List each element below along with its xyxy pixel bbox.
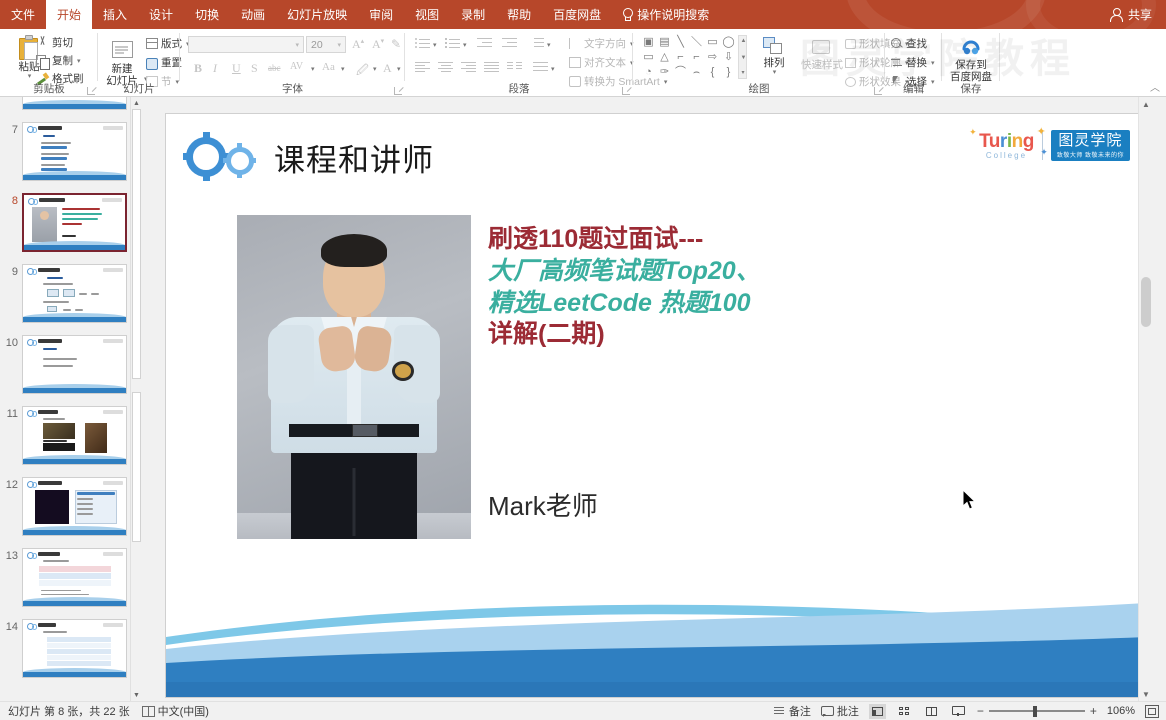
status-right: 备注 批注 − xyxy=(773,703,1166,719)
copy-icon xyxy=(36,54,49,67)
clipboard-dialog-launcher[interactable] xyxy=(87,87,95,95)
shape-arc-icon[interactable]: ⌢ xyxy=(693,67,700,78)
quick-styles-button[interactable]: 快速样式 xyxy=(799,37,845,71)
scrollbar-thumb[interactable] xyxy=(132,392,141,542)
group-label-save: 保存 xyxy=(942,81,1000,96)
columns-button[interactable] xyxy=(507,61,522,73)
thumb-number: 13 xyxy=(0,548,22,607)
tab-insert[interactable]: 插入 xyxy=(92,0,138,29)
language-icon xyxy=(142,706,154,716)
shape-textbox-icon[interactable]: ▣ xyxy=(643,37,653,48)
zoom-knob[interactable] xyxy=(1033,706,1037,717)
gear-large-icon xyxy=(186,137,226,177)
list-item[interactable]: 7 xyxy=(0,122,141,181)
brand-chinese-box: 图灵学院 致敬大师 致敬未来的你 xyxy=(1051,130,1130,161)
increase-font-size-button[interactable]: A▴ xyxy=(352,37,364,52)
tab-home[interactable]: 开始 xyxy=(46,0,92,29)
instructor-photo[interactable] xyxy=(237,215,471,539)
thumb-slide-7[interactable] xyxy=(22,122,127,181)
scroll-up-icon[interactable]: ▲ xyxy=(131,97,141,109)
layout-icon xyxy=(146,38,158,49)
text-direction-icon xyxy=(569,38,581,49)
status-bar: 幻灯片 第 8 张，共 22 张 中文(中国) 备注 批注 xyxy=(0,701,1166,720)
headline-line-4: 详解(二期) xyxy=(488,319,1008,351)
align-center-button[interactable] xyxy=(438,61,453,73)
cut-label: 剪切 xyxy=(52,35,73,50)
ribbon-group-paragraph: ▾ ▾ ▾ xyxy=(405,29,633,97)
font-color-caret-icon[interactable]: ▾ xyxy=(397,65,401,73)
slide-counter[interactable]: 幻灯片 第 8 张，共 22 张 xyxy=(8,703,130,719)
zoom-out-button[interactable]: − xyxy=(977,704,984,718)
language-indicator[interactable]: 中文(中国) xyxy=(142,703,209,719)
thumb-number: 10 xyxy=(0,335,22,394)
thumb-slide-8[interactable] xyxy=(22,193,127,252)
text-shadow-button[interactable]: S xyxy=(251,61,258,76)
numbering-button[interactable] xyxy=(445,37,460,49)
group-label-paragraph: 段落 xyxy=(405,81,633,96)
strikethrough-button[interactable]: abc xyxy=(268,63,281,73)
thumb-title xyxy=(38,481,62,485)
canvas-scrollbar[interactable]: ▲ ▼ xyxy=(1138,97,1152,701)
copy-caret-icon[interactable]: ▾ xyxy=(77,57,81,65)
shape-line-icon[interactable]: ╲ xyxy=(677,37,684,48)
scrollbar-thumb[interactable] xyxy=(1141,277,1151,327)
gear-icon xyxy=(27,410,36,415)
headline-line-1: 刷透110题过面试--- xyxy=(488,224,1008,256)
replace-caret-icon[interactable]: ▾ xyxy=(931,59,935,67)
font-size-value: 20 xyxy=(311,39,323,51)
text-direction-button[interactable]: 文字方向 ▾ xyxy=(569,36,634,51)
shapes-gallery[interactable]: ▣ ▤ ╲ ＼ ▭ ◯ ▭ △ ⌐ ⌐ ⇨ ⇩ ◔ ✑ ⌒ ⌢ { } xyxy=(641,35,736,79)
thumb-title xyxy=(38,552,60,556)
powerpoint-window: 文件 开始 插入 设计 切换 动画 幻灯片放映 审阅 视图 录制 帮助 百度网盘… xyxy=(0,0,1166,720)
normal-view-icon xyxy=(872,707,883,716)
ribbon-group-slides: 新建 幻灯片 ▾ 版式 ▾ 重置 节 ▾ 幻灯片 xyxy=(98,29,180,97)
paste-caret-icon[interactable]: ▾ xyxy=(28,73,32,81)
list-item[interactable]: 6 xyxy=(0,97,141,110)
tab-review[interactable]: 审阅 xyxy=(358,0,404,29)
list-item[interactable]: 12 xyxy=(0,477,141,536)
star-icon: ✦ xyxy=(969,127,977,138)
thumb-number: 14 xyxy=(0,619,22,678)
thumb-brand xyxy=(103,623,123,627)
thumb-slide-12[interactable] xyxy=(22,477,127,536)
slideshow-icon xyxy=(952,706,964,716)
align-right-button[interactable] xyxy=(461,61,476,73)
shape-rectangle-icon[interactable]: ▭ xyxy=(707,37,717,48)
shape-freeform-icon[interactable]: ✑ xyxy=(660,67,669,78)
fit-to-window-button[interactable] xyxy=(1145,705,1158,717)
new-slide-button[interactable]: 新建 幻灯片 xyxy=(100,37,144,87)
list-item[interactable]: 11 xyxy=(0,406,141,465)
find-label: 查找 xyxy=(906,36,927,51)
shape-outline-icon xyxy=(845,58,856,68)
character-spacing-caret-icon[interactable]: ▾ xyxy=(311,65,315,73)
align-left-button[interactable] xyxy=(415,61,430,73)
zoom-slider[interactable]: − + xyxy=(977,704,1097,718)
gear-icon xyxy=(27,126,36,131)
font-size-combobox[interactable]: 20 ▾ xyxy=(306,36,346,53)
shape-fill-icon xyxy=(845,39,856,49)
font-dialog-launcher[interactable] xyxy=(394,87,402,95)
tab-record[interactable]: 录制 xyxy=(450,0,496,29)
notes-button[interactable]: 备注 xyxy=(773,703,811,719)
new-slide-label-1: 新建 xyxy=(112,63,133,75)
thumb-number: 6 xyxy=(0,97,22,110)
ribbon-group-font: ▾ 20 ▾ A▴ A▾ ✎ B I U S abc AV ▾ Aa ▾ 🖉 ▾… xyxy=(180,29,405,97)
replace-label: 替换 xyxy=(906,55,927,70)
shape-rounded-rect-icon[interactable]: ▭ xyxy=(643,52,653,63)
shape-vertical-textbox-icon[interactable]: ▤ xyxy=(659,37,669,48)
ribbon: 粘贴 ▾ 剪切 复制 ▾ 格式刷 剪贴板 xyxy=(0,29,1166,97)
mouse-cursor xyxy=(962,489,978,511)
thumb-slide-14[interactable] xyxy=(22,619,127,678)
font-name-caret-icon[interactable]: ▾ xyxy=(295,41,299,49)
replace-button[interactable]: 替换 ▾ xyxy=(891,55,935,70)
find-button[interactable]: 查找 xyxy=(891,36,927,51)
shape-right-arrow-icon[interactable]: ⇨ xyxy=(708,52,717,63)
group-label-drawing: 绘图 xyxy=(633,81,885,96)
justify-button[interactable] xyxy=(484,61,499,73)
thumb-title xyxy=(38,126,62,130)
replace-icon xyxy=(891,57,903,69)
thumbnail-scrollbar[interactable]: ▲ ▼ xyxy=(130,97,141,701)
thumb-title xyxy=(38,268,60,272)
brand-logo: ✦ ✦ ✦ Turing College 图灵学院 致敬大师 致敬未来的你 xyxy=(979,130,1130,161)
group-label-editing: 编辑 xyxy=(885,81,942,96)
group-label-clipboard: 剪贴板 xyxy=(0,81,98,96)
thumb-brand xyxy=(103,126,123,130)
thumb-number: 12 xyxy=(0,477,22,536)
arrange-caret-icon[interactable]: ▾ xyxy=(773,69,777,77)
decrease-indent-button[interactable] xyxy=(477,37,492,49)
tell-me-search[interactable]: 操作说明搜索 xyxy=(612,0,719,29)
slide-stage: 课程和讲师 ✦ ✦ ✦ Turing College 图 xyxy=(156,97,1152,701)
thumb-brand xyxy=(103,268,123,272)
gear-icon xyxy=(27,623,36,628)
bold-button[interactable]: B xyxy=(194,61,202,76)
reading-view-icon xyxy=(926,707,937,716)
new-slide-icon xyxy=(109,37,135,63)
reset-button[interactable]: 重置 xyxy=(146,55,182,70)
line-spacing-caret-icon[interactable]: ▾ xyxy=(547,41,551,49)
thumb-title xyxy=(38,623,56,627)
ribbon-group-editing: 查找 替换 ▾ 选择 ▾ 编辑 xyxy=(885,29,942,97)
collapse-ribbon-button[interactable]: ︿ xyxy=(1150,79,1160,94)
shape-right-brace-icon[interactable]: } xyxy=(727,67,731,78)
copy-button[interactable]: 复制 ▾ xyxy=(36,53,81,68)
thumb-slide-11[interactable] xyxy=(22,406,127,465)
shape-curve-icon[interactable]: ⌒ xyxy=(675,67,686,78)
thumb-number-selected: 8 xyxy=(0,193,22,252)
shape-triangle-icon[interactable]: △ xyxy=(660,52,668,63)
quick-styles-label: 快速样式 xyxy=(801,59,843,71)
view-slideshow-button[interactable] xyxy=(950,704,967,719)
change-case-caret-icon[interactable]: ▾ xyxy=(341,65,345,73)
line-spacing-button[interactable] xyxy=(529,37,544,49)
thumb-brand xyxy=(103,410,123,414)
drawing-dialog-launcher[interactable] xyxy=(874,87,882,95)
list-item[interactable]: 14 xyxy=(0,619,141,678)
align-text-button[interactable]: 对齐文本 ▾ xyxy=(569,55,634,70)
brand-cn-name: 图灵学院 xyxy=(1057,133,1124,150)
ribbon-tabs: 文件 开始 插入 设计 切换 动画 幻灯片放映 审阅 视图 录制 帮助 百度网盘… xyxy=(0,0,719,29)
list-item[interactable]: 9 xyxy=(0,264,141,323)
brand-turing-text: Turing xyxy=(979,131,1034,153)
brand-tagline: 致敬大师 致敬未来的你 xyxy=(1057,150,1124,159)
reset-icon xyxy=(146,57,158,69)
align-text-icon xyxy=(569,57,581,68)
current-slide[interactable]: 课程和讲师 ✦ ✦ ✦ Turing College 图 xyxy=(166,114,1146,697)
turing-logo: ✦ ✦ ✦ Turing College xyxy=(979,131,1034,160)
tab-file[interactable]: 文件 xyxy=(0,0,46,29)
shape-oval-icon[interactable]: ◯ xyxy=(722,37,734,48)
cut-button[interactable]: 剪切 xyxy=(36,35,73,50)
view-normal-button[interactable] xyxy=(869,704,886,719)
pane-splitter[interactable] xyxy=(152,97,155,701)
font-color-button[interactable]: A xyxy=(383,61,392,76)
headline-textbox[interactable]: 刷透110题过面试--- 大厂高频笔试题Top20、 精选LeetCode 热题… xyxy=(488,224,1008,351)
text-highlight-icon[interactable]: 🖉 xyxy=(356,61,369,82)
italic-button[interactable]: I xyxy=(213,61,217,76)
thumb-slide-10[interactable] xyxy=(22,335,127,394)
shape-elbow-icon[interactable]: ⌐ xyxy=(677,52,683,63)
group-label-font: 字体 xyxy=(180,81,405,96)
shapes-scroll[interactable]: ▲▼▾ xyxy=(738,35,747,79)
comments-button[interactable]: 批注 xyxy=(821,703,859,719)
quick-styles-icon xyxy=(810,37,834,59)
text-direction-label: 文字方向 xyxy=(584,36,626,51)
arrange-label: 排列 xyxy=(764,57,785,69)
columns-caret-icon[interactable]: ▾ xyxy=(551,65,555,73)
shape-left-brace-icon[interactable]: { xyxy=(711,67,715,78)
gear-icon xyxy=(28,198,37,203)
notes-icon xyxy=(773,706,785,716)
thumb-brand xyxy=(102,198,122,202)
thumb-number: 9 xyxy=(0,264,22,323)
thumb-title xyxy=(39,198,65,202)
star-icon: ✦ xyxy=(1037,125,1046,138)
list-item[interactable]: 10 xyxy=(0,335,141,394)
tab-design[interactable]: 设计 xyxy=(138,0,184,29)
headline-line-3: 精选LeetCode 热题100 xyxy=(488,288,1008,320)
shape-pie-icon[interactable]: ◔ xyxy=(645,67,652,78)
arrange-icon xyxy=(763,37,785,57)
gear-icon xyxy=(27,268,36,273)
thumb-title xyxy=(38,339,62,343)
tab-transitions[interactable]: 切换 xyxy=(184,0,230,29)
share-label: 共享 xyxy=(1128,6,1152,23)
gear-icon xyxy=(27,339,36,344)
increase-indent-button[interactable] xyxy=(502,37,517,49)
clear-formatting-icon[interactable]: ✎ xyxy=(391,37,401,52)
wave-decoration xyxy=(166,587,1146,697)
star-icon: ✦ xyxy=(1040,147,1048,158)
brand-college-text: College xyxy=(979,151,1034,160)
highlight-caret-icon[interactable]: ▾ xyxy=(373,65,377,73)
slide-title-block[interactable]: 课程和讲师 xyxy=(186,132,434,182)
person-share-icon xyxy=(1110,8,1123,21)
thumb-slide-9[interactable] xyxy=(22,264,127,323)
paragraph-dialog-launcher[interactable] xyxy=(622,87,630,95)
thumb-slide-6[interactable] xyxy=(22,97,127,110)
scroll-down-icon[interactable]: ▼ xyxy=(1139,687,1153,701)
presenter-name: Mark老师 xyxy=(488,486,598,523)
arrange-button[interactable]: 排列 ▾ xyxy=(753,37,795,77)
baidu-label-1: 保存到 xyxy=(955,59,987,71)
thumb-number: 7 xyxy=(0,122,22,181)
zoom-level-label[interactable]: 106% xyxy=(1107,705,1135,717)
group-separator xyxy=(999,33,1000,81)
ribbon-group-clipboard: 粘贴 ▾ 剪切 复制 ▾ 格式刷 剪贴板 xyxy=(0,29,98,97)
thumb-brand xyxy=(103,481,123,485)
share-button[interactable]: 共享 xyxy=(1104,0,1158,29)
thumb-brand xyxy=(103,552,123,556)
gear-icon xyxy=(27,552,36,557)
text-columns-button[interactable] xyxy=(533,61,548,73)
thumb-brand xyxy=(103,339,123,343)
ribbon-group-save: 保存到 百度网盘 保存 xyxy=(942,29,1000,97)
thumb-title xyxy=(38,410,58,414)
gear-small-icon xyxy=(226,147,254,175)
shape-down-arrow-icon[interactable]: ⇩ xyxy=(724,52,733,63)
titlebar-decoration-1 xyxy=(846,0,1046,29)
tab-baidu-netdisk[interactable]: 百度网盘 xyxy=(542,0,612,29)
lightbulb-icon xyxy=(622,8,632,21)
page-title: 课程和讲师 xyxy=(274,135,434,180)
numbering-caret-icon[interactable]: ▾ xyxy=(463,41,467,49)
thumb-photo xyxy=(32,207,57,242)
status-left: 幻灯片 第 8 张，共 22 张 中文(中国) xyxy=(0,703,209,719)
workspace: 6 7 xyxy=(0,97,1166,701)
gears-decoration xyxy=(186,132,258,182)
view-reading-button[interactable] xyxy=(923,704,940,719)
save-to-baidu-netdisk-button[interactable]: 保存到 百度网盘 xyxy=(948,35,994,83)
headline-line-2: 大厂高频笔试题Top20、 xyxy=(488,256,1008,288)
shape-arrow-icon[interactable]: ＼ xyxy=(691,37,702,48)
list-item[interactable]: 8 xyxy=(0,193,141,252)
scroll-up-icon[interactable]: ▲ xyxy=(1139,97,1153,111)
shape-connector-icon[interactable]: ⌐ xyxy=(693,52,699,63)
change-case-button[interactable]: Aa xyxy=(322,61,335,73)
language-label: 中文(中国) xyxy=(158,703,209,719)
tab-slideshow[interactable]: 幻灯片放映 xyxy=(276,0,358,29)
bullets-button[interactable] xyxy=(415,37,430,49)
zoom-in-button[interactable]: + xyxy=(1090,704,1097,718)
baidu-netdisk-icon xyxy=(958,35,984,59)
comment-icon xyxy=(821,706,833,716)
tab-view[interactable]: 视图 xyxy=(404,0,450,29)
slide-thumbnail-pane[interactable]: 6 7 xyxy=(0,97,141,701)
zoom-track-line xyxy=(989,710,1085,711)
zoom-track[interactable] xyxy=(989,705,1085,717)
title-bar: 文件 开始 插入 设计 切换 动画 幻灯片放映 审阅 视图 录制 帮助 百度网盘… xyxy=(0,0,1166,29)
slide-sorter-icon xyxy=(899,707,910,716)
tab-animations[interactable]: 动画 xyxy=(230,0,276,29)
view-slide-sorter-button[interactable] xyxy=(896,704,913,719)
list-item[interactable]: 13 xyxy=(0,548,141,607)
scrollbar-thumb-upper[interactable] xyxy=(132,109,141,379)
copy-label: 复制 xyxy=(52,53,73,68)
font-name-combobox[interactable]: ▾ xyxy=(188,36,304,53)
notes-label: 备注 xyxy=(789,703,811,719)
underline-button[interactable]: U xyxy=(232,61,241,76)
decrease-font-size-button[interactable]: A▾ xyxy=(372,37,384,52)
ribbon-group-drawing: ▣ ▤ ╲ ＼ ▭ ◯ ▭ △ ⌐ ⌐ ⇨ ⇩ ◔ ✑ ⌒ ⌢ { } ▲▼▾ xyxy=(633,29,885,97)
character-spacing-button[interactable]: AV xyxy=(290,61,303,72)
search-icon xyxy=(891,38,903,50)
align-text-label: 对齐文本 xyxy=(584,55,626,70)
scissors-icon xyxy=(36,36,49,49)
tab-help[interactable]: 帮助 xyxy=(496,0,542,29)
thumb-number: 11 xyxy=(0,406,22,465)
slide-counter-label: 幻灯片 第 8 张，共 22 张 xyxy=(8,703,130,719)
group-label-slides: 幻灯片 xyxy=(98,81,180,96)
gear-icon xyxy=(27,481,36,486)
scroll-down-icon[interactable]: ▼ xyxy=(131,689,141,701)
thumb-slide-13[interactable] xyxy=(22,548,127,607)
tell-me-label: 操作说明搜索 xyxy=(637,6,709,23)
font-size-caret-icon[interactable]: ▾ xyxy=(337,41,341,49)
bullets-caret-icon[interactable]: ▾ xyxy=(433,41,437,49)
comments-label: 批注 xyxy=(837,703,859,719)
